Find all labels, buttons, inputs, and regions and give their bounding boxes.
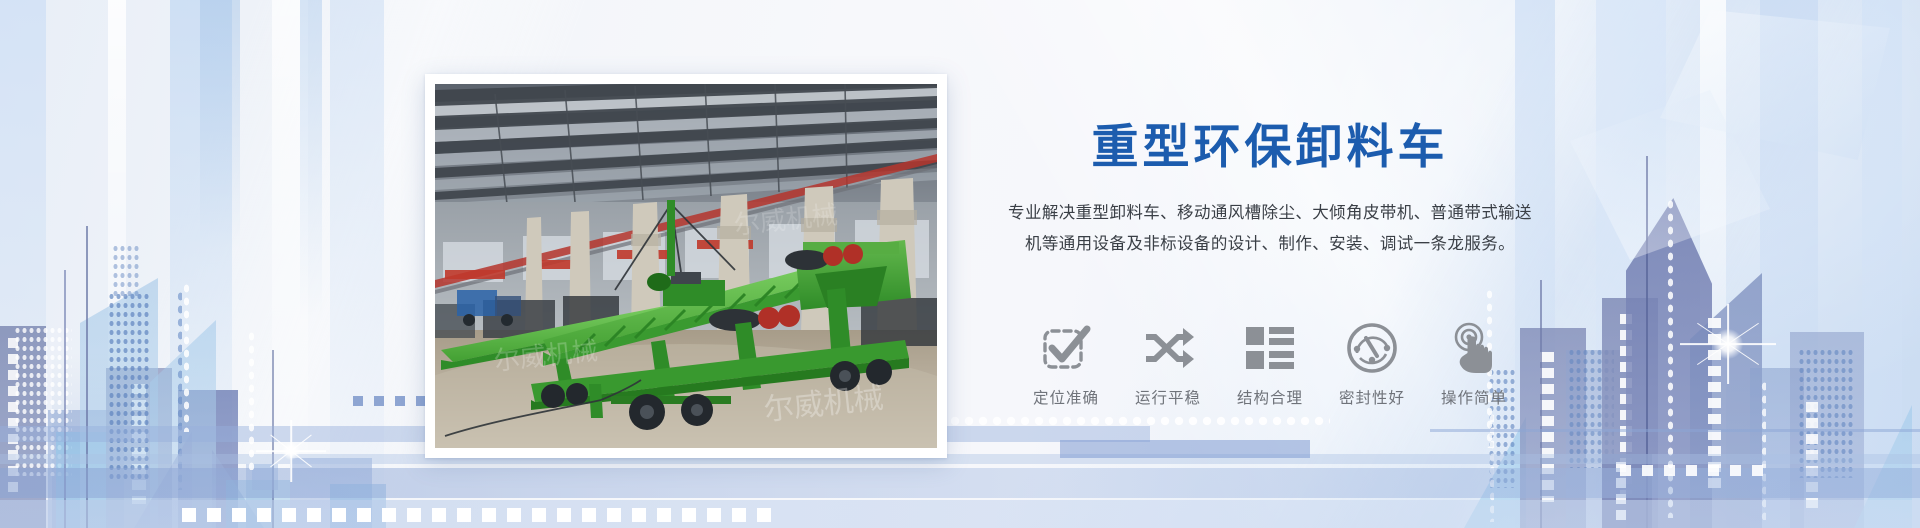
banner-text-block: 重型环保卸料车 专业解决重型卸料车、移动通风槽除尘、大倾角皮带机、普通带式输送机…	[1000, 120, 1540, 259]
feature-label: 运行平稳	[1135, 386, 1201, 408]
feature-item-smooth-running[interactable]: 运行平稳	[1122, 320, 1214, 408]
background-square-row-bottom	[182, 508, 771, 522]
feature-label: 操作简单	[1441, 386, 1507, 408]
page-title: 重型环保卸料车	[1000, 120, 1540, 174]
feature-item-easy-operation[interactable]: 操作简单	[1428, 320, 1520, 408]
background-band-thinline	[1430, 429, 1920, 432]
background-band-2	[0, 454, 1920, 464]
seal-gauge-icon	[1344, 320, 1400, 376]
background-polygon-overlay	[0, 0, 1920, 528]
feature-item-structure[interactable]: 结构合理	[1224, 320, 1316, 408]
background-gradient-wash	[0, 0, 1920, 528]
shuffle-icon	[1140, 320, 1196, 376]
background-light-columns	[0, 0, 1920, 528]
list-grid-icon	[1242, 320, 1298, 376]
background-tall-column-left-2	[300, 0, 322, 320]
background-tall-column-left	[200, 0, 240, 250]
banner-description: 专业解决重型卸料车、移动通风槽除尘、大倾角皮带机、普通带式输送机等通用设备及非标…	[1000, 198, 1540, 259]
product-photo-card: 尔威机械 尔威机械 尔威机械	[425, 74, 947, 458]
feature-label: 定位准确	[1033, 386, 1099, 408]
product-photo: 尔威机械 尔威机械 尔威机械	[435, 84, 937, 448]
background-dotted-column-left	[182, 282, 189, 432]
product-hero-banner: 尔威机械 尔威机械 尔威机械 重型环保卸料车 专业解决重型卸料车、移动通风槽除尘…	[0, 0, 1920, 528]
background-dotted-column-mid	[247, 330, 254, 470]
feature-item-sealing[interactable]: 密封性好	[1326, 320, 1418, 408]
background-lens-flare-right	[1680, 296, 1776, 392]
background-square-row-right	[1620, 465, 1763, 476]
feature-label: 密封性好	[1339, 386, 1405, 408]
feature-item-positioning[interactable]: 定位准确	[1020, 320, 1112, 408]
check-box-icon	[1038, 320, 1094, 376]
background-band-3	[0, 468, 1920, 498]
feature-label: 结构合理	[1237, 386, 1303, 408]
background-lens-flare-left	[256, 416, 326, 486]
background-band-4	[0, 500, 1920, 528]
background-band-accent	[1060, 440, 1310, 458]
feature-list: 定位准确 运行平稳	[1020, 320, 1520, 408]
touch-hand-icon	[1446, 320, 1502, 376]
